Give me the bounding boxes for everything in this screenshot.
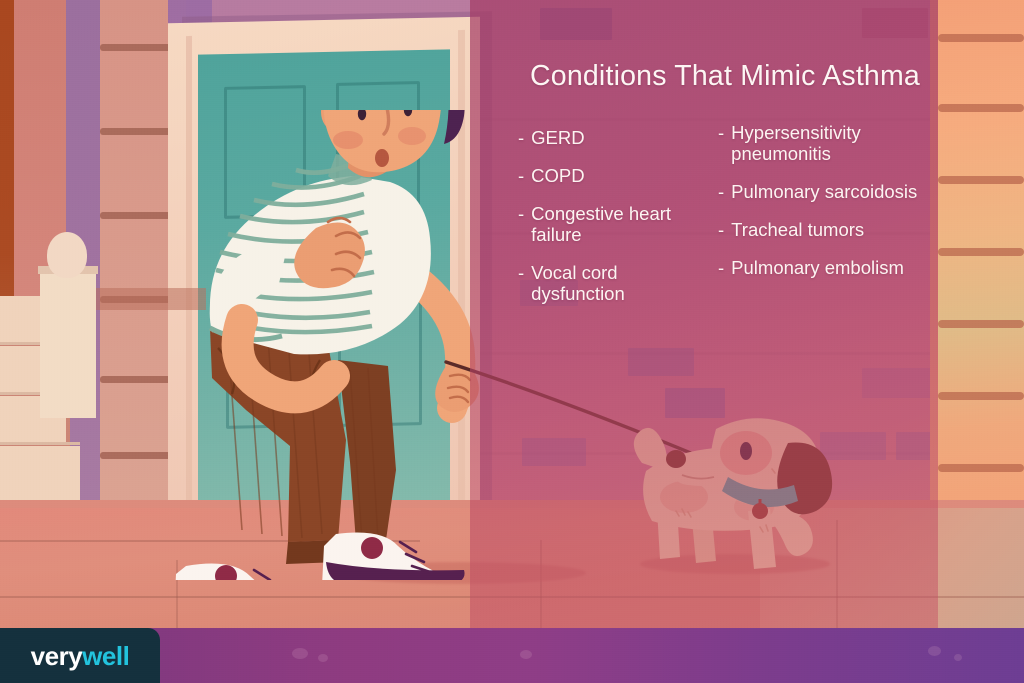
list-item-label: GERD — [531, 127, 708, 148]
brick-seam — [938, 320, 1024, 328]
bar-speck — [520, 650, 532, 659]
list-item-label: Congestive heart failure — [531, 203, 708, 245]
list-bullet: - — [718, 122, 724, 143]
list-item: - Congestive heart failure — [518, 203, 708, 245]
bar-speck — [292, 648, 308, 659]
sneaker — [174, 564, 317, 580]
list-item-label: Pulmonary sarcoidosis — [731, 181, 953, 202]
bar-speck — [928, 646, 941, 656]
page-title: Conditions That Mimic Asthma — [510, 60, 940, 93]
list-item-label: Tracheal tumors — [731, 219, 953, 240]
list-item: - GERD — [518, 127, 708, 148]
stair-step — [0, 446, 80, 502]
brick-seam — [938, 104, 1024, 112]
logo-very-text: very — [31, 641, 83, 671]
bar-speck — [954, 654, 962, 661]
brick-seam — [938, 464, 1024, 472]
list-item: - Vocal cord dysfunction — [518, 262, 708, 304]
bar-speck — [318, 654, 328, 662]
man-figure — [150, 110, 510, 580]
list-item: - COPD — [518, 165, 708, 186]
list-item-label: COPD — [531, 165, 708, 186]
logo-text: verywell — [31, 643, 130, 669]
list-item: - Pulmonary sarcoidosis — [718, 181, 953, 202]
brick-seam — [938, 34, 1024, 42]
verywell-logo[interactable]: verywell — [0, 628, 160, 683]
list-bullet: - — [718, 181, 724, 202]
stair-edge — [0, 442, 80, 445]
list-bullet: - — [518, 127, 524, 148]
list-bullet: - — [718, 219, 724, 240]
list-item-label: Hypersensitivity pneumonitis — [731, 122, 953, 164]
list-bullet: - — [518, 262, 524, 283]
sneaker — [322, 533, 465, 581]
list-bullet: - — [518, 165, 524, 186]
list-item: - Tracheal tumors — [718, 219, 953, 240]
infographic-canvas: Conditions That Mimic Asthma - GERD - CO… — [0, 0, 1024, 683]
list-item-label: Vocal cord dysfunction — [531, 262, 708, 304]
list-item: - Hypersensitivity pneumonitis — [718, 122, 953, 164]
list-bullet: - — [718, 257, 724, 278]
newel-post — [40, 268, 96, 418]
brick-seam — [938, 392, 1024, 400]
list-bullet: - — [518, 203, 524, 224]
logo-well-text: well — [82, 641, 129, 671]
newel-ball — [47, 232, 87, 278]
conditions-list-right: - Hypersensitivity pneumonitis - Pulmona… — [718, 122, 953, 295]
list-item-label: Pulmonary embolism — [731, 257, 953, 278]
conditions-list-left: - GERD - COPD - Congestive heart failure… — [518, 127, 708, 321]
list-item: - Pulmonary embolism — [718, 257, 953, 278]
